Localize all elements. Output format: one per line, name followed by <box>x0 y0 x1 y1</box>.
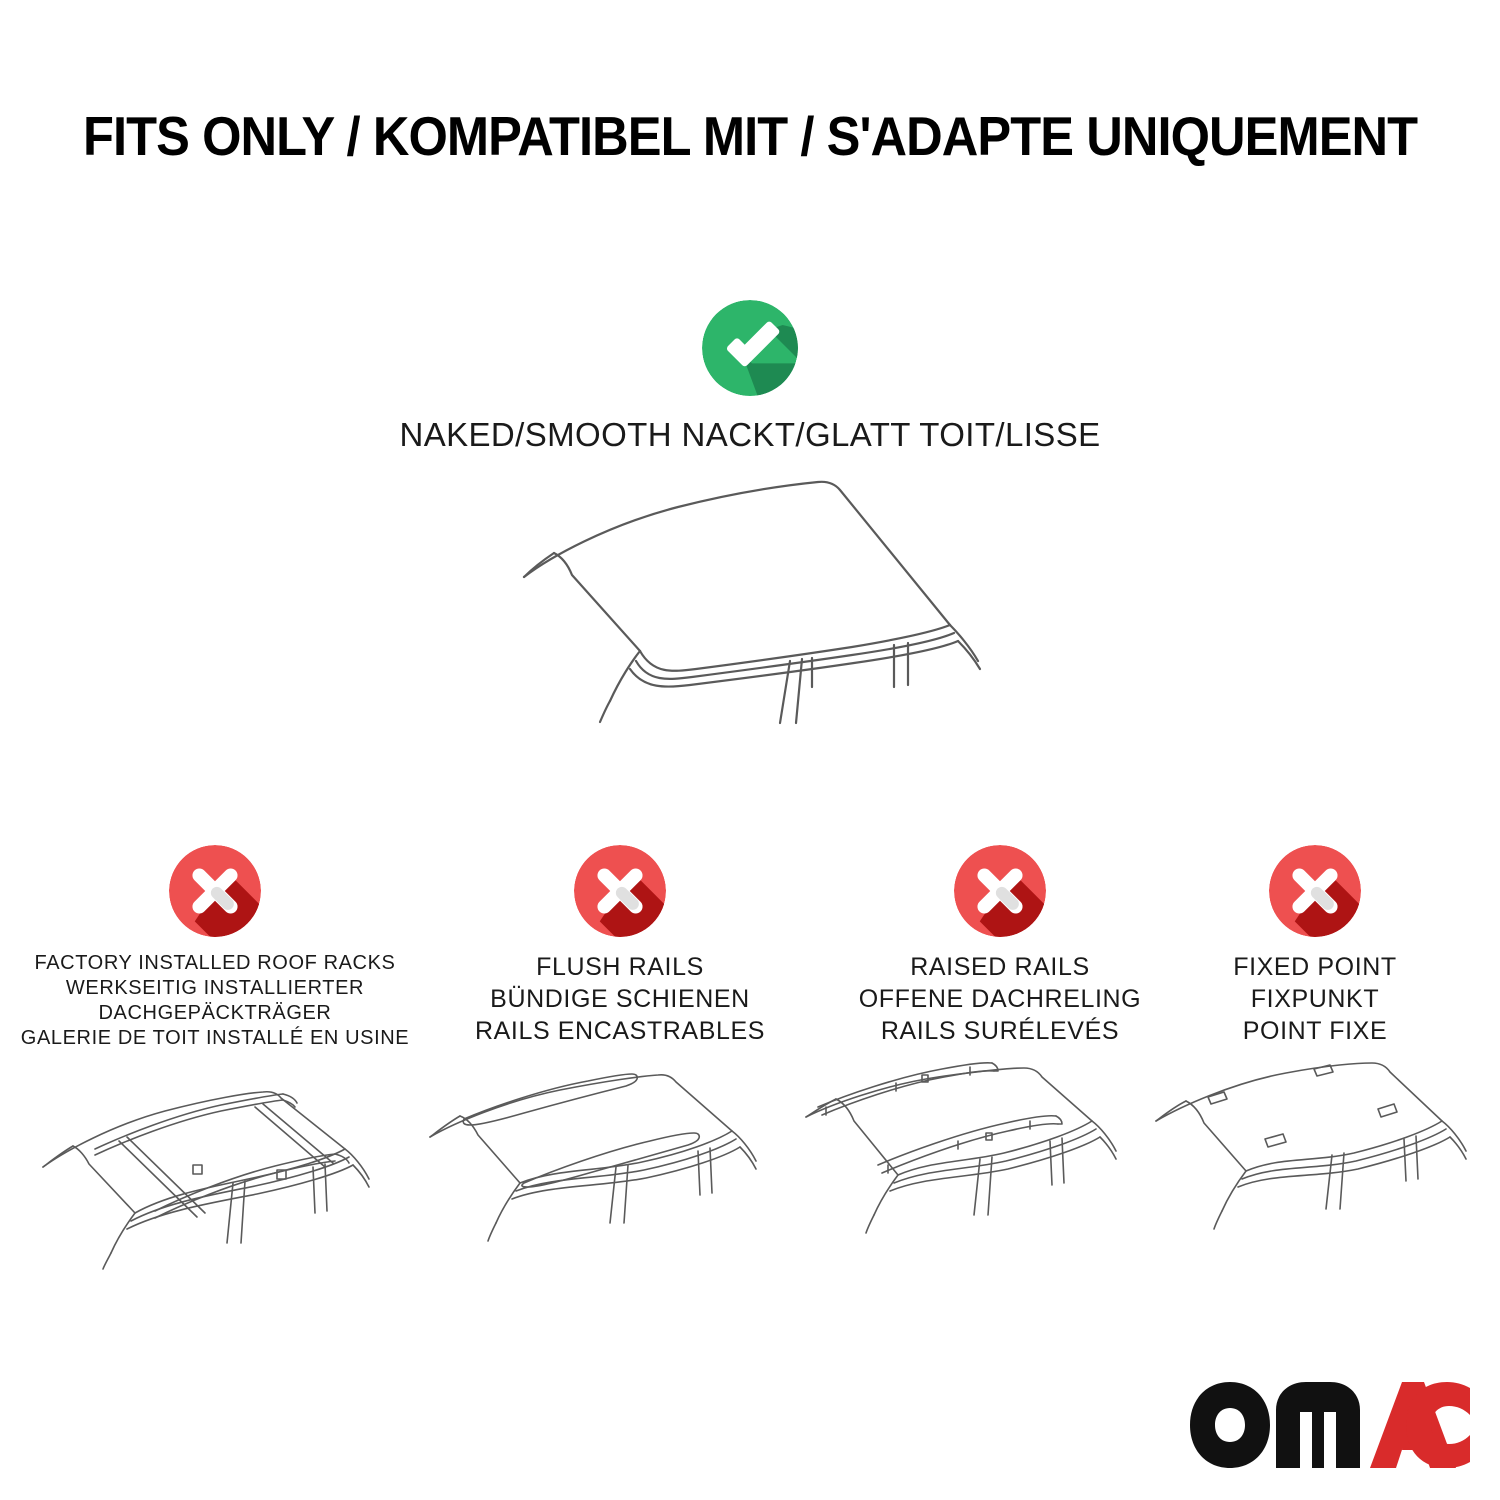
compatible-roof-label-line-1: NAKED/SMOOTH <box>399 416 672 453</box>
logo-letter-m <box>1276 1382 1360 1468</box>
page-title-text: FITS ONLY / KOMPATIBEL MIT / S'ADAPTE UN… <box>83 104 1417 168</box>
compatible-roof-section: NAKED/SMOOTH NACKT/GLATT TOIT/LISSE <box>0 300 1500 735</box>
label-line-3: RAILS SURÉLEVÉS <box>859 1015 1141 1047</box>
incompatible-label-factory-racks: FACTORY INSTALLED ROOF RACKS WERKSEITIG … <box>21 951 409 1051</box>
logo-letter-o <box>1190 1382 1270 1468</box>
car-roof-flush-rails-illustration <box>420 1059 820 1289</box>
incompatible-label-raised-rails: RAISED RAILS OFFENE DACHRELING RAILS SUR… <box>859 951 1141 1047</box>
car-roof-raised-rails-illustration <box>800 1059 1200 1289</box>
label-line-1: RAISED RAILS <box>859 951 1141 983</box>
label-line-3: RAILS ENCASTRABLES <box>475 1015 765 1047</box>
label-line-3: DACHGEPÄCKTRÄGER <box>21 1001 409 1026</box>
incompatible-label-flush-rails: FLUSH RAILS BÜNDIGE SCHIENEN RAILS ENCAS… <box>475 951 765 1047</box>
incompatible-roof-type-flush-rails: FLUSH RAILS BÜNDIGE SCHIENEN RAILS ENCAS… <box>420 845 820 1289</box>
label-line-2: OFFENE DACHRELING <box>859 983 1141 1015</box>
compatible-roof-label-line-3: TOIT/LISSE <box>919 416 1100 453</box>
check-circle-icon <box>702 300 798 396</box>
cross-circle-icon <box>954 845 1046 937</box>
cross-circle-icon <box>574 845 666 937</box>
cross-circle-icon <box>169 845 261 937</box>
compatible-roof-label-line-2: NACKT/GLATT <box>682 416 911 453</box>
label-line-3: POINT FIXE <box>1233 1015 1397 1047</box>
label-line-2: WERKSEITIG INSTALLIERTER <box>21 976 409 1001</box>
cross-circle-icon <box>1269 845 1361 937</box>
car-roof-factory-racks-illustration <box>15 1063 415 1293</box>
car-roof-naked-smooth-illustration <box>480 465 1020 735</box>
omac-logo: OMAC <box>1170 1370 1470 1480</box>
incompatible-roof-types-grid: FACTORY INSTALLED ROOF RACKS WERKSEITIG … <box>0 845 1500 1345</box>
label-line-1: FLUSH RAILS <box>475 951 765 983</box>
compatible-roof-label: NAKED/SMOOTH NACKT/GLATT TOIT/LISSE <box>399 414 1100 455</box>
label-line-2: BÜNDIGE SCHIENEN <box>475 983 765 1015</box>
label-line-2: FIXPUNKT <box>1233 983 1397 1015</box>
incompatible-roof-type-factory-racks: FACTORY INSTALLED ROOF RACKS WERKSEITIG … <box>15 845 415 1293</box>
label-line-1: FIXED POINT <box>1233 951 1397 983</box>
logo-text: OMAC <box>1470 1370 1471 1371</box>
car-roof-fixed-point-illustration <box>1150 1059 1480 1289</box>
incompatible-roof-type-raised-rails: RAISED RAILS OFFENE DACHRELING RAILS SUR… <box>800 845 1200 1289</box>
incompatible-label-fixed-point: FIXED POINT FIXPUNKT POINT FIXE <box>1233 951 1397 1047</box>
page-title: FITS ONLY / KOMPATIBEL MIT / S'ADAPTE UN… <box>0 104 1500 168</box>
incompatible-roof-type-fixed-point: FIXED POINT FIXPUNKT POINT FIXE <box>1175 845 1455 1289</box>
label-line-4: GALERIE DE TOIT INSTALLÉ EN USINE <box>21 1026 409 1051</box>
label-line-1: FACTORY INSTALLED ROOF RACKS <box>21 951 409 976</box>
